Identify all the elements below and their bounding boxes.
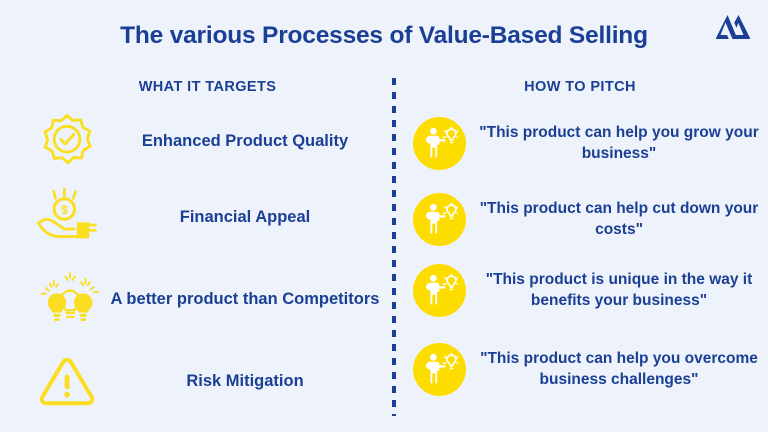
badge-check-icon	[24, 105, 110, 177]
list-item: "This product can help you overcome busi…	[400, 334, 762, 404]
target-label: A better product than Competitors	[110, 288, 386, 310]
pitch-quote: "This product can help cut down your cos…	[478, 198, 762, 241]
presenter-idea-icon	[413, 117, 466, 170]
three-lightbulbs-icon	[24, 263, 110, 335]
pitch-badge	[400, 343, 478, 396]
presenter-idea-icon	[413, 193, 466, 246]
pitch-badge	[400, 264, 478, 317]
presenter-idea-icon	[413, 343, 466, 396]
target-label: Financial Appeal	[110, 206, 386, 228]
column-header-pitch: HOW TO PITCH	[400, 79, 760, 95]
list-item: "This product can help cut down your cos…	[400, 184, 762, 254]
page-title: The various Processes of Value-Based Sel…	[0, 22, 768, 50]
pitch-quote: "This product can help you grow your bus…	[478, 122, 762, 165]
pitches-list: "This product can help you grow your bus…	[400, 104, 762, 420]
hand-holding-coin-icon: $	[24, 181, 110, 253]
svg-text:$: $	[61, 205, 68, 217]
warning-triangle-icon	[24, 345, 110, 417]
targets-list: Enhanced Product Quality $	[24, 104, 386, 420]
list-item: "This product can help you grow your bus…	[400, 108, 762, 178]
pitch-quote: "This product can help you overcome busi…	[478, 348, 762, 391]
target-label: Enhanced Product Quality	[110, 130, 386, 152]
list-item: Enhanced Product Quality	[24, 104, 386, 178]
list-item: "This product is unique in the way it be…	[400, 255, 762, 325]
list-item: $ Financial Appeal	[24, 180, 386, 254]
mountain-logo-icon	[716, 12, 750, 42]
pitch-badge	[400, 193, 478, 246]
target-label: Risk Mitigation	[110, 370, 386, 392]
infographic-canvas: The various Processes of Value-Based Sel…	[0, 0, 768, 432]
column-divider	[392, 78, 396, 416]
presenter-idea-icon	[413, 264, 466, 317]
list-item: Risk Mitigation	[24, 344, 386, 418]
pitch-badge	[400, 117, 478, 170]
column-header-targets: WHAT IT TARGETS	[30, 79, 385, 95]
pitch-quote: "This product is unique in the way it be…	[478, 269, 762, 312]
list-item: A better product than Competitors	[24, 258, 386, 340]
